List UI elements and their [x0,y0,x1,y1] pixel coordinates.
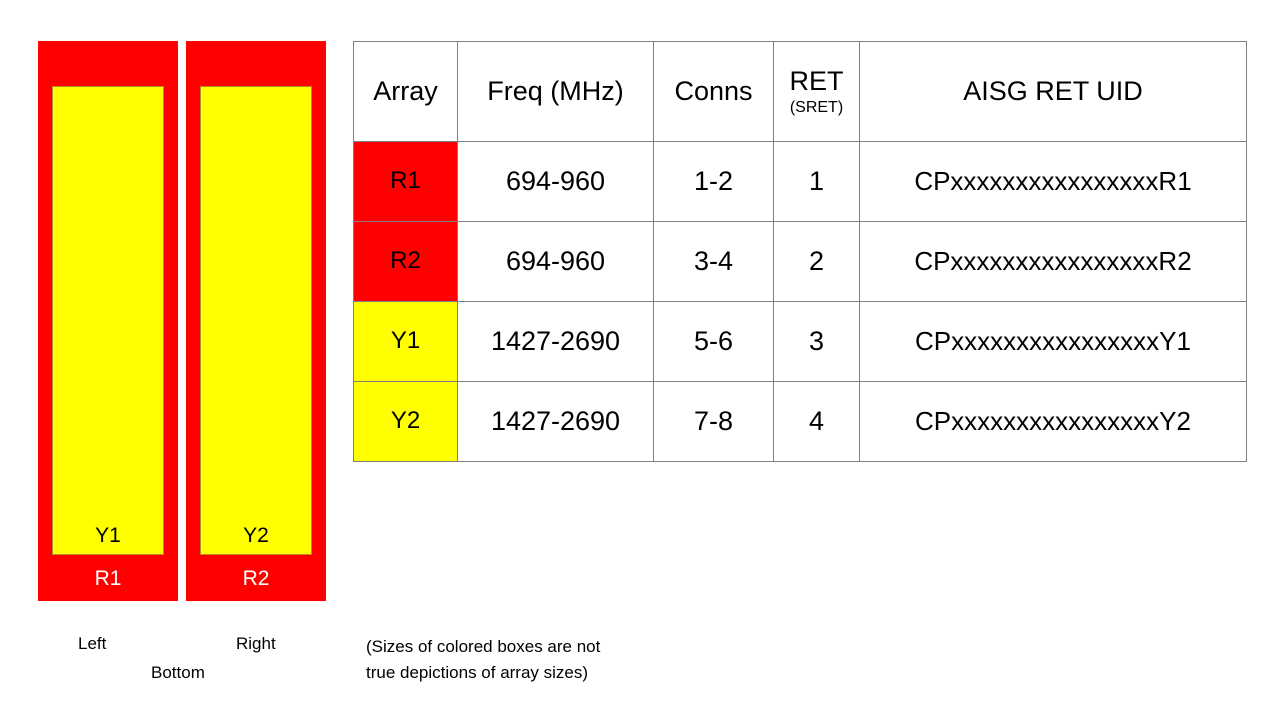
antenna-array-diagram: Y1 R1 Y2 R2 [38,41,328,601]
cell-ret-label: 1 [809,166,824,196]
cell-freq-label: 694-960 [506,246,605,276]
column-header-array: Array [354,42,458,142]
cell-uid-r2: CPxxxxxxxxxxxxxxxxR2 [860,222,1247,302]
table-header-row: Array Freq (MHz) Conns RET (SRET) AISG R… [354,42,1247,142]
cell-conns-r1: 1-2 [654,142,774,222]
cell-uid-y2: CPxxxxxxxxxxxxxxxxY2 [860,382,1247,462]
column-header-uid: AISG RET UID [860,42,1247,142]
column-header-freq: Freq (MHz) [458,42,654,142]
footnote-line-1: (Sizes of colored boxes are not [366,634,706,660]
footnote-line-2: true depictions of array sizes) [366,660,706,686]
array-outer-label-r1: R1 [38,568,178,589]
array-inner-block-y1: Y1 [52,86,164,555]
column-header-array-label: Array [354,76,457,106]
cell-uid-r1: CPxxxxxxxxxxxxxxxxR1 [860,142,1247,222]
cell-freq-label: 1427-2690 [491,326,620,356]
orientation-label-right: Right [236,634,276,654]
cell-freq-r2: 694-960 [458,222,654,302]
cell-freq-y2: 1427-2690 [458,382,654,462]
cell-uid-label: CPxxxxxxxxxxxxxxxxY2 [915,406,1191,436]
cell-ret-label: 3 [809,326,824,356]
cell-array-r2: R2 [354,222,458,302]
cell-ret-r2: 2 [774,222,860,302]
column-header-freq-label: Freq (MHz) [458,76,653,106]
column-header-ret-sublabel: (SRET) [774,98,859,117]
cell-freq-label: 694-960 [506,166,605,196]
cell-ret-label: 4 [809,406,824,436]
cell-array-label: R1 [390,167,421,194]
table-row: Y2 1427-2690 7-8 4 CPxxxxxxxxxxxxxxxxY2 [354,382,1247,462]
cell-conns-r2: 3-4 [654,222,774,302]
cell-ret-y2: 4 [774,382,860,462]
column-header-conns-label: Conns [654,76,773,106]
cell-uid-y1: CPxxxxxxxxxxxxxxxxY1 [860,302,1247,382]
cell-conns-label: 5-6 [694,326,733,356]
array-inner-block-y2: Y2 [200,86,312,555]
cell-conns-label: 1-2 [694,166,733,196]
array-inner-label-y1: Y1 [53,525,163,546]
cell-array-y2: Y2 [354,382,458,462]
table-row: R1 694-960 1-2 1 CPxxxxxxxxxxxxxxxxR1 [354,142,1247,222]
cell-ret-y1: 3 [774,302,860,382]
cell-conns-y1: 5-6 [654,302,774,382]
column-header-ret: RET (SRET) [774,42,860,142]
cell-ret-r1: 1 [774,142,860,222]
cell-array-label: Y1 [391,327,420,354]
column-header-conns: Conns [654,42,774,142]
array-outer-label-r2: R2 [186,568,326,589]
cell-uid-label: CPxxxxxxxxxxxxxxxxR1 [914,166,1191,196]
cell-conns-label: 7-8 [694,406,733,436]
orientation-label-left: Left [78,634,106,654]
cell-freq-y1: 1427-2690 [458,302,654,382]
cell-freq-label: 1427-2690 [491,406,620,436]
array-block-left: Y1 R1 [38,41,178,601]
array-inner-label-y2: Y2 [201,525,311,546]
column-header-uid-label: AISG RET UID [860,76,1246,106]
cell-array-label: R2 [390,247,421,274]
aisg-ret-uid-table: Array Freq (MHz) Conns RET (SRET) AISG R… [353,41,1247,462]
cell-uid-label: CPxxxxxxxxxxxxxxxxR2 [914,246,1191,276]
cell-uid-label: CPxxxxxxxxxxxxxxxxY1 [915,326,1191,356]
array-block-right: Y2 R2 [186,41,326,601]
cell-array-y1: Y1 [354,302,458,382]
diagram-footnote: (Sizes of colored boxes are not true dep… [366,634,706,687]
cell-conns-y2: 7-8 [654,382,774,462]
table-row: R2 694-960 3-4 2 CPxxxxxxxxxxxxxxxxR2 [354,222,1247,302]
cell-array-label: Y2 [391,407,420,434]
cell-array-r1: R1 [354,142,458,222]
cell-ret-label: 2 [809,246,824,276]
orientation-labels: Left Right Bottom [38,632,338,694]
column-header-ret-label: RET [774,66,859,96]
cell-freq-r1: 694-960 [458,142,654,222]
cell-conns-label: 3-4 [694,246,733,276]
table-row: Y1 1427-2690 5-6 3 CPxxxxxxxxxxxxxxxxY1 [354,302,1247,382]
orientation-label-bottom: Bottom [151,663,205,683]
